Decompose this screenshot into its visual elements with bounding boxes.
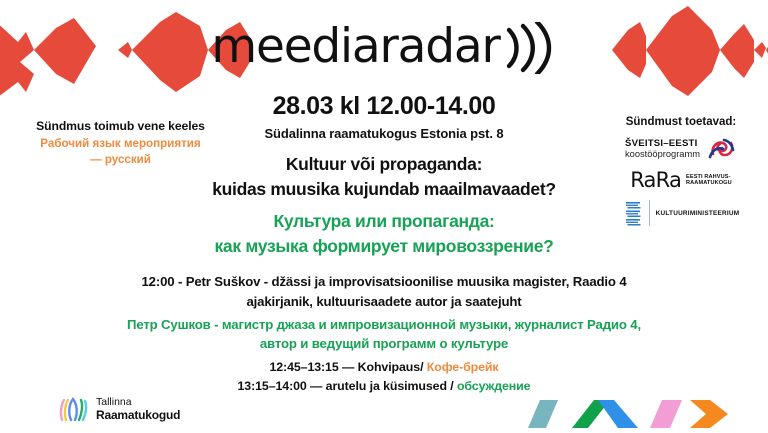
- tallinn-libraries-icon: [58, 396, 88, 424]
- event-title-ru-line1: Культура или пропаганда:: [0, 209, 768, 234]
- colored-shapes-logo: [514, 398, 750, 430]
- event-title-ru-line2: как музыка формирует мировоззрение?: [0, 234, 768, 259]
- event-title-et-line2: kuidas muusika kujundab maailmavaadet?: [0, 177, 768, 202]
- program-et-line1: 12:00 - Petr Suškov - džässi ja improvis…: [0, 272, 768, 292]
- schedule-block: 12:45–13:15 — Kohvipaus/ Кофе-брейк 13:1…: [0, 358, 768, 396]
- header-waveform-band: [0, 0, 768, 100]
- poster-canvas: meediaradar Sündmus toimub vene keeles Р…: [0, 0, 768, 433]
- schedule-ru-0: Кофе-брейк: [423, 360, 498, 374]
- event-title-estonian: Kultuur või propaganda: kuidas muusika k…: [0, 152, 768, 202]
- schedule-ru-1: обсуждение: [454, 379, 531, 393]
- program-et-line2: ajakirjanik, kultuurisaadete autor ja sa…: [0, 292, 768, 312]
- schedule-et-1: arutelu ja küsimused /: [326, 379, 454, 393]
- program-estonian: 12:00 - Petr Suškov - džässi ja improvis…: [0, 272, 768, 312]
- schedule-time-1: 13:15–14:00 —: [238, 379, 326, 393]
- program-block: 12:00 - Petr Suškov - džässi ja improvis…: [0, 272, 768, 354]
- program-ru-line2: автор и ведущий программ о культуре: [0, 334, 768, 354]
- event-title-russian: Культура или пропаганда: как музыка форм…: [0, 209, 768, 259]
- schedule-time-0: 12:45–13:15 —: [269, 360, 357, 374]
- schedule-row: 13:15–14:00 — arutelu ja küsimused / обс…: [0, 377, 768, 396]
- tallinn-libraries-logo: Tallinna Raamatukogud: [58, 396, 180, 424]
- event-title-et-line1: Kultuur või propaganda:: [0, 152, 768, 177]
- schedule-row: 12:45–13:15 — Kohvipaus/ Кофе-брейк: [0, 358, 768, 377]
- footer-brand-marks: [514, 398, 750, 430]
- program-russian: Петр Сушков - магистр джаза и импровизац…: [0, 315, 768, 355]
- tallinn-libraries-line2: Raamatukogud: [96, 409, 180, 422]
- waveform-shapes-icon: [0, 0, 768, 100]
- schedule-et-0: Kohvipaus/: [358, 360, 424, 374]
- program-ru-line1: Петр Сушков - магистр джаза и импровизац…: [0, 315, 768, 335]
- event-datetime: 28.03 kl 12.00-14.00: [0, 92, 768, 121]
- event-details: 28.03 kl 12.00-14.00 Südalinna raamatuko…: [0, 92, 768, 259]
- event-venue: Südalinna raamatukogus Estonia pst. 8: [0, 126, 768, 141]
